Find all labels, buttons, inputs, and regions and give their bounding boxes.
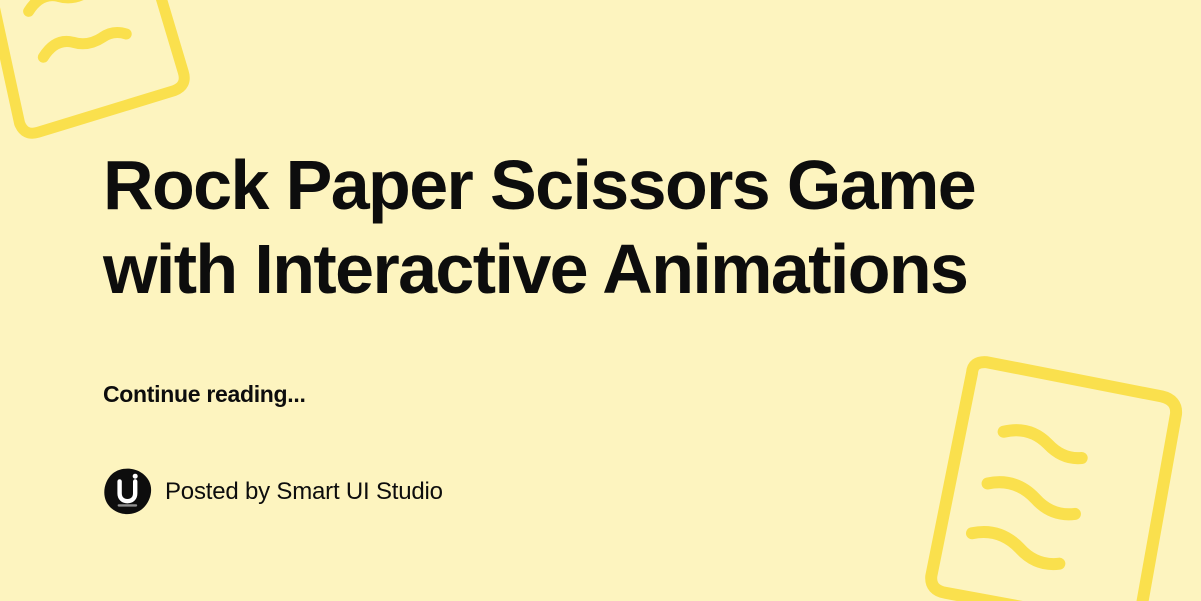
byline-author: Posted by Smart UI Studio (165, 478, 443, 506)
continue-reading-link[interactable]: Continue reading... (103, 381, 306, 408)
avatar (103, 467, 152, 516)
blog-preview-card: Rock Paper Scissors Game with Interactiv… (0, 0, 1201, 601)
card-content: Rock Paper Scissors Game with Interactiv… (103, 0, 1103, 601)
page-title: Rock Paper Scissors Game with Interactiv… (103, 143, 1103, 311)
byline: Posted by Smart UI Studio (103, 467, 443, 516)
